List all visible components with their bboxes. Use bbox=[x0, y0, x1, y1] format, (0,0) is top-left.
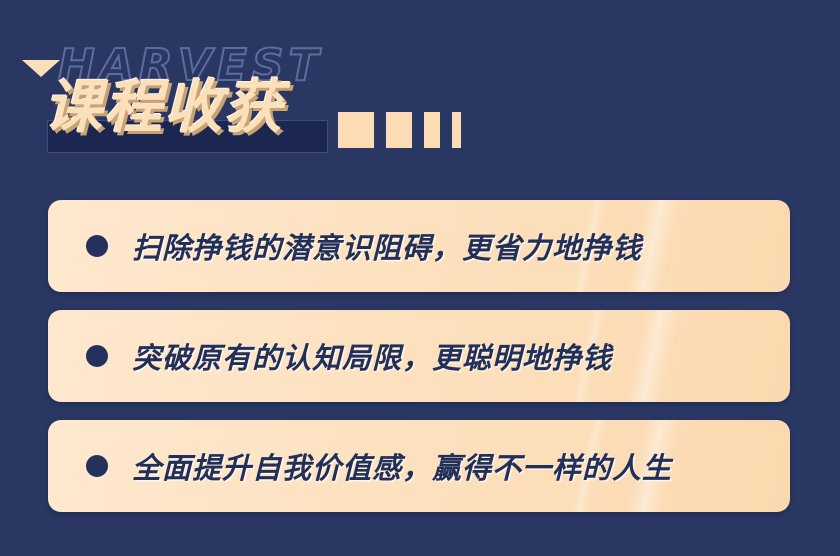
deco-square-4 bbox=[452, 112, 461, 148]
slide-canvas: HARVEST 课程收获 扫除挣钱的潜意识阻碍，更省力地挣钱 突破原有的认知局限… bbox=[0, 0, 840, 556]
deco-square-2 bbox=[386, 112, 412, 148]
bullet-dot-icon bbox=[86, 455, 108, 477]
slide-header: HARVEST 课程收获 bbox=[0, 0, 840, 180]
list-item-label: 扫除挣钱的潜意识阻碍，更省力地挣钱 bbox=[132, 225, 642, 267]
list-item: 突破原有的认知局限，更聪明地挣钱 bbox=[48, 310, 790, 402]
bullet-dot-icon bbox=[86, 345, 108, 367]
list-item-label: 全面提升自我价值感，赢得不一样的人生 bbox=[132, 445, 672, 487]
decorative-squares-group bbox=[338, 112, 461, 148]
harvest-card-list: 扫除挣钱的潜意识阻碍，更省力地挣钱 突破原有的认知局限，更聪明地挣钱 全面提升自… bbox=[48, 200, 790, 530]
bullet-dot-icon bbox=[86, 235, 108, 257]
deco-square-1 bbox=[338, 112, 374, 148]
list-item: 全面提升自我价值感，赢得不一样的人生 bbox=[48, 420, 790, 512]
list-item: 扫除挣钱的潜意识阻碍，更省力地挣钱 bbox=[48, 200, 790, 292]
deco-square-3 bbox=[424, 112, 440, 148]
list-item-label: 突破原有的认知局限，更聪明地挣钱 bbox=[132, 335, 612, 377]
page-title: 课程收获 bbox=[44, 78, 284, 136]
